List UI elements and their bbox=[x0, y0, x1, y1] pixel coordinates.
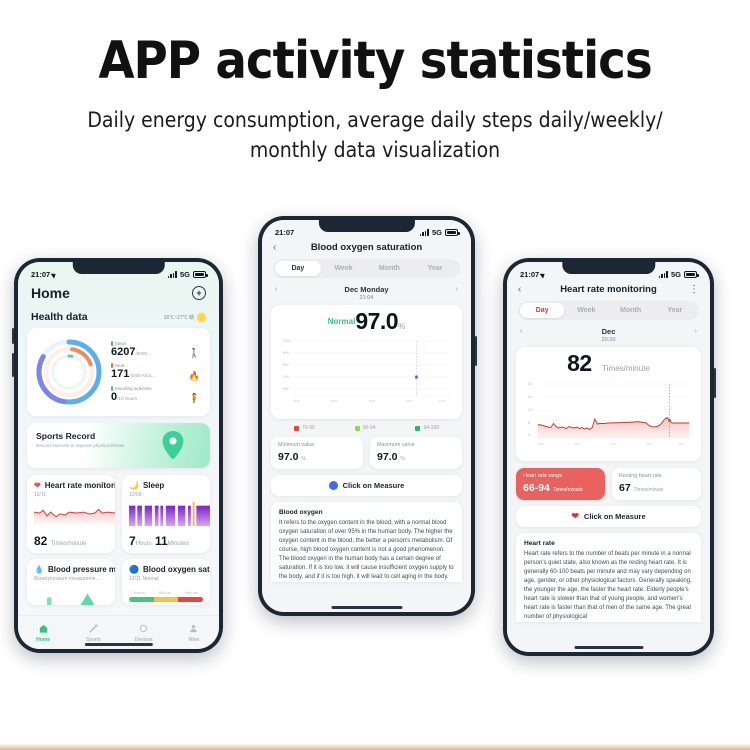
activity-rings bbox=[33, 336, 105, 408]
moon-icon: 🌙 bbox=[129, 481, 139, 490]
weather-info: 16℃~27℃ 晴 bbox=[164, 313, 206, 322]
desk-edge bbox=[0, 744, 750, 750]
segment-day-label: Day bbox=[536, 307, 549, 314]
spo2-legend: 70-90 90-94 94-100 bbox=[262, 419, 471, 431]
page-title: APP activity statistics bbox=[0, 34, 750, 89]
legend-high-label: 94-100 bbox=[423, 425, 439, 431]
heart-rate-sparkline bbox=[34, 502, 115, 526]
card-blood-pressure-sub: Blood pressure measureme... bbox=[34, 576, 108, 582]
segment-day[interactable]: Day bbox=[520, 303, 564, 318]
network-label: 5G bbox=[180, 270, 190, 279]
blue-circle-icon bbox=[329, 481, 338, 490]
reading-unit: Times/minute bbox=[602, 364, 650, 373]
person-icon bbox=[169, 623, 219, 635]
article-body: It refers to the oxygen content in the b… bbox=[279, 519, 454, 582]
date-navigator: ‹ Dec Monday › bbox=[262, 278, 471, 295]
battery-icon bbox=[193, 271, 206, 278]
segment-week-label: Week bbox=[335, 265, 353, 272]
svg-text:00:00: 00:00 bbox=[293, 399, 300, 403]
segment-day-label: Day bbox=[291, 265, 304, 272]
card-sleep-unit: Hours bbox=[136, 541, 152, 547]
plus-circle-icon[interactable]: + bbox=[192, 286, 206, 300]
blood-oxygen-article: Blood oxygen It refers to the oxygen con… bbox=[271, 502, 462, 582]
mini-cards-row-1: ❤Heart rate monitoring 12/11 82 Times/mi… bbox=[27, 475, 210, 553]
heart-rate-chart-card: 82 Times/minute 2001601208040 bbox=[516, 347, 701, 461]
stat-steps-value: 6207 bbox=[111, 346, 135, 358]
home-title-row: Home + bbox=[18, 281, 219, 301]
chevron-left-icon[interactable]: ‹ bbox=[518, 284, 532, 295]
spo2-chart[interactable]: 100%99%98%97%96% 00:0006:0012:0018:0024:… bbox=[279, 333, 454, 412]
segment-week-label: Week bbox=[577, 307, 595, 314]
resting-heart-rate-label: Resting heart rate bbox=[619, 473, 694, 480]
band-label-high: High risk bbox=[185, 591, 198, 595]
current-date: Dec Monday bbox=[344, 285, 388, 294]
minimum-value: 97.0 bbox=[278, 451, 298, 463]
home-indicator bbox=[574, 646, 643, 649]
battery-icon bbox=[684, 271, 697, 278]
phone-blood-oxygen-screen: 21:07 5G ‹ Blood oxygen saturation Day W… bbox=[262, 220, 471, 612]
resting-heart-rate-value: 67 bbox=[619, 482, 631, 494]
segment-month[interactable]: Month bbox=[609, 303, 653, 318]
svg-text:99%: 99% bbox=[283, 351, 289, 355]
click-on-measure-label: Click on Measure bbox=[584, 512, 646, 521]
svg-text:40: 40 bbox=[528, 433, 531, 437]
svg-text:12:00: 12:00 bbox=[610, 442, 617, 446]
svg-text:120: 120 bbox=[528, 408, 533, 412]
click-on-measure-button[interactable]: Click on Measure bbox=[271, 475, 462, 496]
date-prev-button[interactable]: ‹ bbox=[275, 286, 277, 293]
segment-month-label: Month bbox=[379, 265, 400, 272]
sun-icon bbox=[197, 313, 206, 322]
tab-devices[interactable]: Devices bbox=[119, 623, 169, 643]
phone-heart-rate-screen: 21:07 5G ‹ Heart rate monitoring ⋮ Day bbox=[507, 262, 710, 652]
reading-unit: % bbox=[398, 322, 405, 331]
stat-steps-unit: /6000... bbox=[135, 351, 150, 356]
band-label-mild: Mild risk bbox=[159, 591, 171, 595]
date-navigator: ‹ Dec › bbox=[507, 320, 710, 337]
map-pin-icon bbox=[162, 431, 184, 459]
segment-year-label: Year bbox=[667, 307, 682, 314]
standing-icon: 🧍 bbox=[189, 394, 200, 403]
legend-item-high: 94-100 bbox=[415, 425, 439, 431]
reading-time: 20:20 bbox=[507, 337, 710, 343]
heart-icon: ❤ bbox=[34, 481, 41, 490]
segment-year-label: Year bbox=[428, 265, 443, 272]
segment-month-label: Month bbox=[620, 307, 641, 314]
stat-heat-value: 171 bbox=[111, 368, 129, 380]
card-blood-pressure[interactable]: 💧Blood pressure monitoring Blood pressur… bbox=[27, 559, 115, 605]
article-body: Heart rate refers to the number of beats… bbox=[524, 550, 693, 622]
reading-time: 21:04 bbox=[262, 295, 471, 301]
stat-standing: Standing activities 0/10 Hours 🧍 bbox=[111, 386, 200, 403]
card-sleep[interactable]: 🌙Sleep 12/09 bbox=[122, 475, 210, 553]
svg-text:96%: 96% bbox=[283, 387, 289, 391]
blood-oxygen-chart-card: Normal97.0% 100%99%98%97%96% bbox=[271, 305, 462, 419]
segment-day[interactable]: Day bbox=[275, 261, 321, 276]
band-label-normal: Normal bbox=[134, 591, 145, 595]
svg-text:98%: 98% bbox=[283, 363, 289, 367]
sleep-barchart bbox=[129, 502, 210, 526]
mini-cards-row-2: 💧Blood pressure monitoring Blood pressur… bbox=[27, 559, 210, 605]
tab-sports[interactable]: Sports bbox=[68, 623, 118, 643]
minimum-value-card: Minimum value 97.0 % bbox=[271, 437, 363, 469]
legend-low-label: 70-90 bbox=[302, 425, 315, 431]
notch bbox=[318, 220, 414, 232]
date-next-button[interactable]: › bbox=[695, 328, 697, 335]
svg-text:00:00: 00:00 bbox=[538, 442, 545, 446]
svg-text:06:00: 06:00 bbox=[331, 399, 338, 403]
svg-text:97%: 97% bbox=[283, 375, 289, 379]
more-vertical-icon[interactable]: ⋮ bbox=[685, 284, 699, 295]
heart-rate-article: Heart rate Heart rate refers to the numb… bbox=[516, 533, 701, 622]
resting-heart-rate-unit: Times/minute bbox=[634, 487, 664, 493]
location-arrow-icon bbox=[540, 271, 547, 278]
sports-record-card[interactable]: Sports Record Record exercise to improve… bbox=[27, 423, 210, 468]
stat-heat: Heat 171/2000 Kiloc... 🔥 bbox=[111, 363, 200, 380]
flame-icon: 🔥 bbox=[189, 372, 200, 381]
card-heart-rate-unit: Times/minute bbox=[51, 541, 87, 547]
date-next-button[interactable]: › bbox=[456, 286, 458, 293]
card-heart-rate-date: 12/11 bbox=[34, 492, 108, 498]
svg-text:18:00: 18:00 bbox=[646, 442, 653, 446]
sports-icon bbox=[68, 623, 118, 635]
health-data-label: Health data bbox=[31, 311, 88, 323]
svg-text:100%: 100% bbox=[283, 339, 291, 343]
health-data-section-header: Health data 16℃~27℃ 晴 bbox=[18, 301, 219, 328]
segment-year[interactable]: Year bbox=[653, 303, 697, 318]
article-heading: Heart rate bbox=[524, 540, 693, 547]
maximum-value: 97.0 bbox=[377, 451, 397, 463]
heart-rate-summary-row: Heart rate range 66-94 Times/minute Rest… bbox=[516, 468, 701, 500]
card-sleep-unit2: Minutes bbox=[168, 541, 189, 547]
period-segmented-control: Day Week Month Year bbox=[273, 259, 460, 278]
svg-text:200: 200 bbox=[528, 382, 533, 386]
svg-text:12:00: 12:00 bbox=[368, 399, 375, 403]
status-badge: Normal bbox=[328, 317, 356, 326]
status-time: 21:07 bbox=[31, 270, 50, 279]
resting-heart-rate-card: Resting heart rate 67 Times/minute bbox=[612, 468, 701, 500]
segment-week[interactable]: Week bbox=[321, 261, 367, 276]
home-indicator bbox=[331, 606, 402, 609]
minimum-value-label: Minimum value bbox=[278, 442, 356, 449]
stat-standing-label: Standing activities bbox=[115, 386, 152, 391]
stat-steps: Steps 6207/6000... 🚶 bbox=[111, 341, 200, 358]
card-heart-rate-value: 82 bbox=[34, 534, 47, 548]
status-time: 21:07 bbox=[275, 228, 294, 237]
notch bbox=[562, 262, 655, 274]
battery-icon bbox=[445, 229, 458, 236]
home-icon bbox=[18, 623, 68, 635]
card-sleep-value: 7 bbox=[129, 534, 136, 548]
maximum-value-label: Maximum value bbox=[377, 442, 455, 449]
blood-oxygen-band-bar bbox=[129, 597, 203, 602]
weather-text: 16℃~27℃ 晴 bbox=[164, 314, 194, 321]
svg-text:06:00: 06:00 bbox=[574, 442, 581, 446]
legend-item-mid: 90-94 bbox=[355, 425, 376, 431]
phone-blood-oxygen: 21:07 5G ‹ Blood oxygen saturation Day W… bbox=[258, 216, 475, 616]
notch bbox=[72, 262, 164, 274]
heart-rate-range-unit: Times/minute bbox=[553, 487, 583, 493]
location-arrow-icon bbox=[51, 271, 58, 278]
heart-rate-range-label: Heart rate range bbox=[523, 473, 598, 480]
tab-home[interactable]: Home bbox=[18, 623, 68, 643]
poster-header: APP activity statistics Daily energy con… bbox=[0, 0, 750, 165]
poster-root: APP activity statistics Daily energy con… bbox=[0, 0, 750, 750]
legend-item-low: 70-90 bbox=[294, 425, 315, 431]
segment-week[interactable]: Week bbox=[564, 303, 608, 318]
phone-home-screen: 21:07 5G Home + Health data bbox=[18, 262, 219, 649]
reading-value: 97.0 bbox=[355, 308, 398, 334]
heart-rate-range-value: 66-94 bbox=[523, 482, 550, 494]
period-segmented-control: Day Week Month Year bbox=[518, 301, 699, 320]
maximum-unit: % bbox=[400, 456, 404, 462]
health-data-card[interactable]: Steps 6207/6000... 🚶 Heat 171/2000 Kiloc… bbox=[27, 328, 210, 416]
home-title: Home bbox=[31, 285, 70, 301]
card-heart-rate-title: Heart rate monitoring bbox=[45, 481, 115, 490]
click-on-measure-label: Click on Measure bbox=[343, 481, 405, 490]
svg-text:24:00: 24:00 bbox=[439, 399, 446, 403]
svg-text:80: 80 bbox=[528, 421, 531, 425]
segment-year[interactable]: Year bbox=[412, 261, 458, 276]
article-heading: Blood oxygen bbox=[279, 509, 454, 516]
network-label: 5G bbox=[432, 228, 442, 237]
legend-mid-label: 90-94 bbox=[363, 425, 376, 431]
current-reading: 82 Times/minute bbox=[524, 352, 693, 375]
signal-bars-icon bbox=[168, 271, 177, 278]
card-blood-oxygen-sub: 12/11 Normal bbox=[129, 576, 203, 582]
svg-text:24:00: 24:00 bbox=[678, 442, 685, 446]
maximum-value-card: Maximum value 97.0 % bbox=[370, 437, 462, 469]
page-subtitle: Daily energy consumption, average daily … bbox=[0, 105, 750, 166]
walking-icon: 🚶 bbox=[189, 349, 200, 358]
tab-home-label: Home bbox=[36, 637, 50, 643]
nav-bar: ‹ Blood oxygen saturation bbox=[262, 239, 471, 259]
current-date: Dec bbox=[602, 327, 616, 336]
min-max-row: Minimum value 97.0 % Maximum value 97.0 … bbox=[271, 437, 462, 469]
blood-pressure-graphic bbox=[34, 588, 115, 605]
card-sleep-value2: 11 bbox=[155, 534, 168, 548]
svg-text:18:00: 18:00 bbox=[406, 399, 413, 403]
screen-title: Heart rate monitoring bbox=[532, 284, 685, 295]
click-on-measure-button[interactable]: ❤ Click on Measure bbox=[516, 506, 701, 527]
devices-icon bbox=[119, 623, 169, 635]
heart-icon: ❤ bbox=[571, 511, 579, 522]
signal-bars-icon bbox=[420, 229, 429, 236]
card-blood-oxygen-title: Blood oxygen saturation bbox=[143, 565, 210, 574]
tab-sports-label: Sports bbox=[86, 637, 100, 643]
tab-devices-label: Devices bbox=[135, 637, 153, 643]
card-sleep-date: 12/09 bbox=[129, 492, 203, 498]
current-reading: Normal97.0% bbox=[279, 310, 454, 333]
status-time: 21:07 bbox=[520, 270, 539, 279]
card-heart-rate[interactable]: ❤Heart rate monitoring 12/11 82 Times/mi… bbox=[27, 475, 115, 553]
card-sleep-title: Sleep bbox=[143, 481, 164, 490]
stat-standing-unit: /10 Hours bbox=[117, 396, 137, 401]
minimum-unit: % bbox=[301, 456, 305, 462]
svg-text:160: 160 bbox=[528, 395, 533, 399]
chevron-left-icon[interactable]: ‹ bbox=[273, 242, 287, 253]
stat-heat-unit: /2000 Kiloc... bbox=[129, 373, 156, 378]
reading-value: 82 bbox=[567, 350, 592, 376]
heart-rate-range-card: Heart rate range 66-94 Times/minute bbox=[516, 468, 605, 500]
home-indicator bbox=[84, 643, 152, 646]
heart-rate-chart[interactable]: 2001601208040 bbox=[524, 375, 693, 454]
tab-mine[interactable]: Mine bbox=[169, 623, 219, 643]
phone-home: 21:07 5G Home + Health data bbox=[14, 258, 223, 653]
card-blood-oxygen[interactable]: 🔵Blood oxygen saturation 12/11 Normal No… bbox=[122, 559, 210, 605]
screen-title: Blood oxygen saturation bbox=[287, 242, 446, 253]
tab-mine-label: Mine bbox=[188, 637, 199, 643]
network-label: 5G bbox=[671, 270, 681, 279]
phone-heart-rate: 21:07 5G ‹ Heart rate monitoring ⋮ Day bbox=[503, 258, 714, 656]
drop-blue-icon: 🔵 bbox=[129, 565, 139, 574]
card-blood-pressure-title: Blood pressure monitoring bbox=[48, 565, 115, 574]
drop-green-icon: 💧 bbox=[34, 565, 44, 574]
signal-bars-icon bbox=[659, 271, 668, 278]
nav-bar: ‹ Heart rate monitoring ⋮ bbox=[507, 281, 710, 301]
segment-month[interactable]: Month bbox=[367, 261, 413, 276]
date-prev-button[interactable]: ‹ bbox=[520, 328, 522, 335]
